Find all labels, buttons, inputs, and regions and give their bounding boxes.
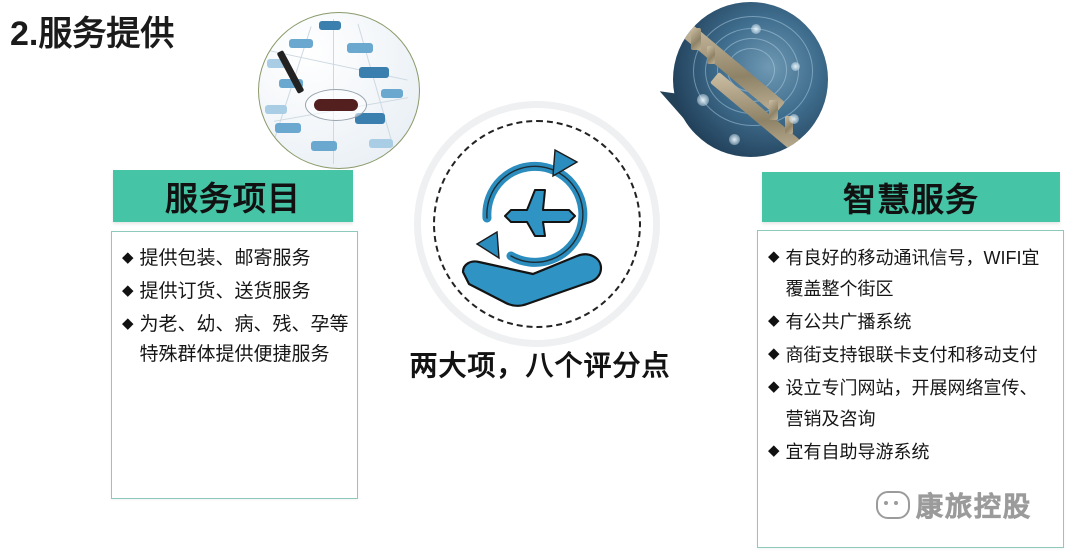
diamond-bullet-icon: ◆ — [122, 244, 134, 273]
page-title: 2.服务提供 — [10, 6, 174, 55]
circuit-board-tech-photo — [655, 2, 830, 167]
panel-header-label: 服务项目 — [165, 172, 301, 220]
watermark: 康旅控股 — [876, 485, 1032, 524]
list-item: ◆ 提供包装、邮寄服务 — [122, 244, 349, 275]
panel-header-label: 智慧服务 — [843, 173, 979, 221]
list-item-label: 有良好的移动通讯信号，WIFI宜覆盖整个街区 — [786, 243, 1055, 305]
list-item-label: 有公共广播系统 — [786, 307, 1055, 338]
list-item-label: 提供订货、送货服务 — [140, 277, 349, 308]
diamond-bullet-icon: ◆ — [768, 307, 780, 336]
map-pins-group — [259, 13, 419, 168]
list-item: ◆ 为老、幼、病、残、孕等特殊群体提供便捷服务 — [122, 310, 349, 372]
watermark-label: 康旅控股 — [916, 485, 1032, 524]
list-item: ◆ 设立专门网站，开展网络宣传、营销及咨询 — [768, 373, 1055, 435]
list-item: ◆ 宜有自助导游系统 — [768, 437, 1055, 468]
list-item: ◆ 商街支持银联卡支付和移动支付 — [768, 340, 1055, 371]
center-caption: 两大项，八个评分点 — [400, 344, 680, 384]
slide-canvas: 2.服务提供 — [0, 0, 1080, 555]
magnifier-icon — [305, 89, 367, 121]
diamond-bullet-icon: ◆ — [768, 437, 780, 466]
emblem-artwork — [449, 132, 627, 314]
diamond-bullet-icon: ◆ — [122, 310, 134, 339]
list-item: ◆ 有良好的移动通讯信号，WIFI宜覆盖整个街区 — [768, 243, 1055, 305]
diamond-bullet-icon: ◆ — [122, 277, 134, 306]
list-item-label: 提供包装、邮寄服务 — [140, 244, 349, 275]
map-pins-magnifier-photo — [258, 12, 433, 172]
list-item-label: 设立专门网站，开展网络宣传、营销及咨询 — [786, 373, 1055, 435]
panel-header-service-items: 服务项目 — [113, 170, 353, 222]
hand-holding-airplane-icon — [421, 108, 653, 340]
diamond-bullet-icon: ◆ — [768, 373, 780, 402]
list-item: ◆ 有公共广播系统 — [768, 307, 1055, 338]
list-item-label: 宜有自助导游系统 — [786, 437, 1055, 468]
diamond-bullet-icon: ◆ — [768, 243, 780, 272]
list-item-label: 为老、幼、病、残、孕等特殊群体提供便捷服务 — [140, 310, 349, 372]
photo-disc-left — [258, 12, 420, 169]
list-item: ◆ 提供订货、送货服务 — [122, 277, 349, 308]
panel-header-smart-service: 智慧服务 — [762, 172, 1060, 222]
wechat-badge-icon — [876, 491, 910, 519]
bullet-list-service-items: ◆ 提供包装、邮寄服务 ◆ 提供订货、送货服务 ◆ 为老、幼、病、残、孕等特殊群… — [112, 232, 357, 371]
diamond-bullet-icon: ◆ — [768, 340, 780, 369]
panel-box-service-items: ◆ 提供包装、邮寄服务 ◆ 提供订货、送货服务 ◆ 为老、幼、病、残、孕等特殊群… — [111, 231, 358, 499]
list-item-label: 商街支持银联卡支付和移动支付 — [786, 340, 1055, 371]
photo-disc-right — [673, 2, 828, 157]
bullet-list-smart-service: ◆ 有良好的移动通讯信号，WIFI宜覆盖整个街区 ◆ 有公共广播系统 ◆ 商街支… — [758, 231, 1063, 468]
